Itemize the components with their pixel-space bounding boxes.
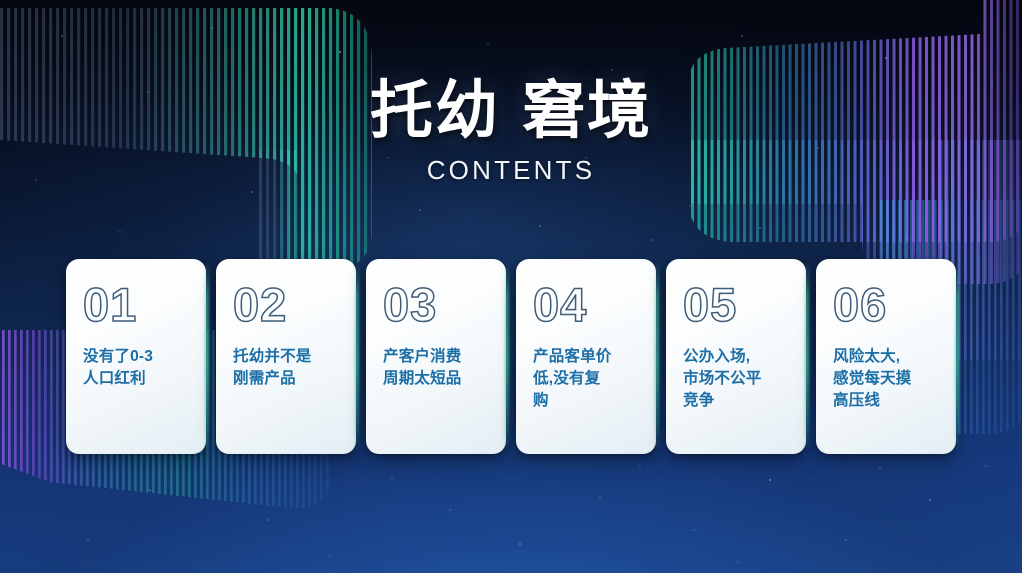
card-label: 没有了0-3 人口红利 [83, 346, 206, 390]
title-part-1: 托幼 [370, 76, 500, 146]
agenda-card-list: 01 没有了0-3 人口红利 02 托幼并不是 刚需产品 03 产客户消费 周期… [66, 259, 958, 454]
page-subtitle: CONTENTS [0, 155, 1022, 186]
card-number: 05 [683, 281, 806, 328]
title-part-2: 窘境 [522, 76, 652, 146]
card-number: 06 [833, 281, 956, 328]
agenda-card[interactable]: 05 公办入场, 市场不公平 竞争 [666, 259, 806, 454]
card-label: 产品客单价 低,没有复 购 [533, 346, 656, 412]
card-number: 02 [233, 281, 356, 328]
agenda-card[interactable]: 01 没有了0-3 人口红利 [66, 259, 206, 454]
agenda-card[interactable]: 06 风险太大, 感觉每天摸 高压线 [816, 259, 956, 454]
card-label: 产客户消费 周期太短品 [383, 346, 506, 390]
card-label: 托幼并不是 刚需产品 [233, 346, 356, 390]
card-number: 04 [533, 281, 656, 328]
presentation-slide: 托幼窘境 CONTENTS 01 没有了0-3 人口红利 02 托幼并不是 刚需… [0, 0, 1022, 573]
card-number: 01 [83, 281, 206, 328]
agenda-card[interactable]: 04 产品客单价 低,没有复 购 [516, 259, 656, 454]
card-label: 公办入场, 市场不公平 竞争 [683, 346, 806, 412]
page-title: 托幼窘境 [0, 78, 1022, 145]
title-block: 托幼窘境 CONTENTS [0, 78, 1022, 186]
agenda-card[interactable]: 03 产客户消费 周期太短品 [366, 259, 506, 454]
agenda-card[interactable]: 02 托幼并不是 刚需产品 [216, 259, 356, 454]
card-number: 03 [383, 281, 506, 328]
card-label: 风险太大, 感觉每天摸 高压线 [833, 346, 956, 412]
